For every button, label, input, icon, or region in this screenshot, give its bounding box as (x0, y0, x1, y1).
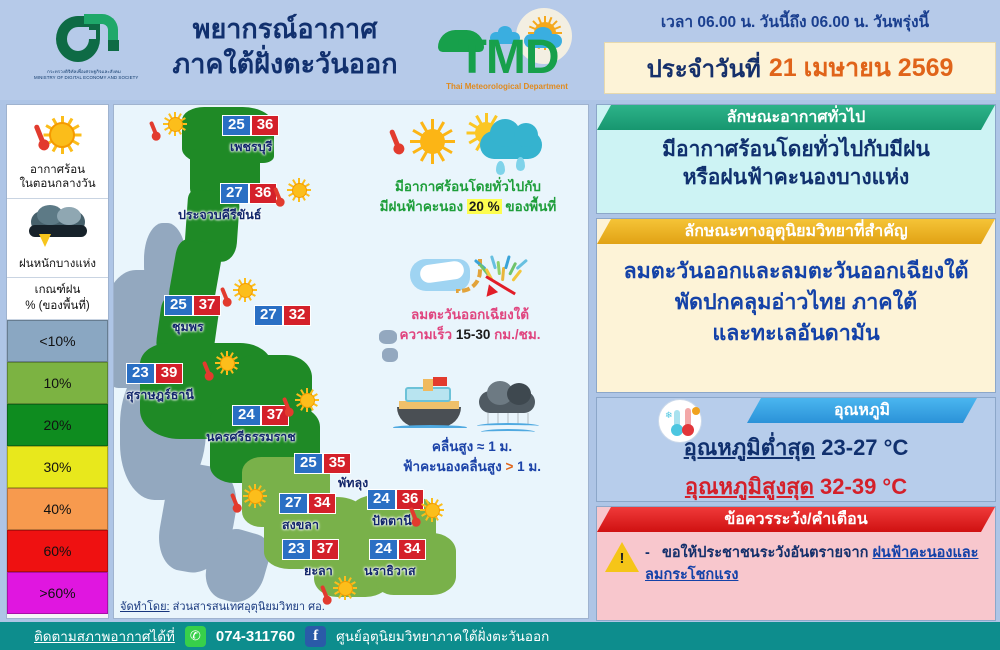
map-note-wind: ลมตะวันออกเฉียงใต้ ความเร็ว 15-30 กม./ชม… (364, 247, 576, 344)
forecast-infographic: กระทรวงดิจิทัลเพื่อเศรษฐกิจและสังคม MINI… (0, 0, 1000, 650)
panel-general-title: ลักษณะอากาศทั่วไป (597, 105, 995, 130)
legend-swatch-5: 60% (7, 530, 108, 572)
panel-general-line2: หรือฝนฟ้าคะนองบางแห่ง (597, 164, 995, 192)
date-label: ประจำวันที่ (647, 49, 761, 88)
map-panel: 2536เพชรบุรี2736ประจวบคีรีขันธ์2537ชุมพร… (113, 104, 589, 619)
temp-min-value: 27 (279, 493, 308, 514)
legend-hot-weather: อากาศร้อน ในตอนกลางวัน (7, 105, 108, 199)
ministry-name-english: MINISTRY OF DIGITAL ECONOMY AND SOCIETY (34, 75, 134, 80)
panel-warning-title: ข้อควรระวัง/คำเตือน (597, 507, 995, 532)
tmd-subtitle: Thai Meteorological Department (432, 82, 582, 91)
sun-icon-map (214, 350, 240, 376)
panel-temperature: ❄ อุณหภูมิ อุณหภูมิต่ำสุด 23-27 °C อุณหภ… (596, 397, 996, 502)
wind-icon (390, 247, 550, 303)
temperature-min-row: อุณหภูมิต่ำสุด 23-27 °C (597, 430, 995, 465)
legend-swatch-label: 40% (43, 501, 71, 517)
city-label: เพชรบุรี (230, 137, 272, 157)
panel-meteorology-line1: ลมตะวันออกและลมตะวันออกเฉียงใต้ (597, 256, 995, 287)
map-note-wave-line2-b: 1 ม. (517, 459, 541, 474)
legend-heavy-rain: ฝนหนักบางแห่ง (7, 199, 108, 278)
map-note-weather-line2-b: ของพื้นที่ (505, 199, 556, 214)
temperature-box: 2536 (222, 115, 279, 136)
temperature-max-row: อุณหภูมิสูงสุด 32-39 °C (597, 469, 995, 504)
city-label: นราธิวาส (364, 561, 416, 581)
legend-swatch-0: <10% (7, 320, 108, 362)
map-note-weather-line2-a: มีฝนฟ้าคะนอง (380, 199, 463, 214)
temp-max-value: 34 (308, 493, 337, 514)
legend-swatch-label: 10% (43, 375, 71, 391)
panel-meteorology: ลักษณะทางอุตุนิยมวิทยาที่สำคัญ ลมตะวันออ… (596, 218, 996, 393)
map-note-wave: คลื่นสูง ≈ 1 ม. ฟ้าคะนองคลื่นสูง > 1 ม. (366, 377, 578, 476)
ministry-name-thai: กระทรวงดิจิทัลเพื่อเศรษฐกิจและสังคม (34, 68, 134, 75)
thermometer-pair-icon: ❄ (659, 400, 701, 442)
temp-min-value: 24 (369, 539, 398, 560)
legend-rain-caption: ฝนหนักบางแห่ง (9, 257, 106, 271)
temperature-box: 2734 (279, 493, 336, 514)
phone-icon: ✆ (185, 626, 206, 647)
legend-swatch-label: 60% (43, 543, 71, 559)
temperature-box: 2537 (164, 295, 221, 316)
map-note-wave-line1-a: คลื่นสูง ≈ (432, 439, 485, 454)
legend-panel: อากาศร้อน ในตอนกลางวัน ฝนหนักบางแห่ง เกณ… (6, 104, 109, 619)
sun-icon-map (419, 497, 445, 523)
temperature-max-value: 32-39 °C (820, 474, 907, 499)
sun-rain-combo-icon (368, 109, 568, 173)
temperature-box: 2736 (220, 183, 277, 204)
temp-min-value: 24 (367, 489, 396, 510)
legend-scale-title-line1: เกณฑ์ฝน (9, 283, 106, 299)
map-note-weather: มีอากาศร้อนโดยทั่วไปกับ มีฝนฟ้าคะนอง 20 … (350, 109, 586, 216)
thunderstorm-icon (9, 203, 106, 257)
legend-swatch-label: 30% (43, 459, 71, 475)
panel-temperature-title: อุณหภูมิ (747, 398, 977, 423)
legend-scale-title-line2: % (ของพื้นที่) (9, 299, 106, 315)
temperature-box: 2437 (232, 405, 289, 426)
temp-max-value: 32 (283, 305, 312, 326)
map-note-wave-line2-a: ฟ้าคะนองคลื่นสูง (403, 459, 502, 474)
legend-swatch-6: >60% (7, 572, 108, 614)
tmd-wordmark: TMD (434, 34, 582, 82)
page-title: พยากรณ์อากาศ ภาคใต้ฝั่งตะวันออก (150, 12, 420, 81)
sun-icon-map (332, 575, 358, 601)
facebook-icon[interactable]: f (305, 626, 326, 647)
boat-rain-icon (377, 377, 567, 435)
legend-swatch-3: 30% (7, 446, 108, 488)
warning-text-plain: ขอให้ประชาชนระวังอันตรายจาก (662, 545, 868, 561)
map-note-weather-line2: มีฝนฟ้าคะนอง 20 % ของพื้นที่ (350, 197, 586, 217)
legend-swatch-label: <10% (39, 333, 75, 349)
temp-max-value: 37 (193, 295, 222, 316)
panel-meteorology-title: ลักษณะทางอุตุนิยมวิทยาที่สำคัญ (597, 219, 995, 244)
temp-min-value: 27 (254, 305, 283, 326)
panel-meteorology-line2: พัดปกคลุมอ่าวไทย ภาคใต้ (597, 287, 995, 318)
date-value: 21 เมษายน 2569 (769, 48, 954, 88)
map-note-wind-line2-a: ความเร็ว (400, 327, 453, 342)
city-label: นครศรีธรรมราช (206, 427, 296, 447)
sun-thermometer-icon (9, 109, 106, 163)
legend-swatch-2: 20% (7, 404, 108, 446)
city-label: ยะลา (304, 561, 333, 581)
legend-hot-caption-line2: ในตอนกลางวัน (9, 177, 106, 191)
city-label: สุราษฎร์ธานี (126, 385, 194, 405)
map-credit-value: ส่วนสารสนเทศอุตุนิยมวิทยา ศอ. (173, 601, 325, 613)
city-label: สงขลา (282, 515, 319, 535)
temperature-min-value: 23-27 °C (821, 435, 908, 460)
panel-general-weather: ลักษณะอากาศทั่วไป มีอากาศร้อนโดยทั่วไปกั… (596, 104, 996, 214)
map-note-wave-line1-b: 1 ม. (488, 439, 512, 454)
temp-min-value: 23 (126, 363, 155, 384)
page-title-line1: พยากรณ์อากาศ (150, 12, 420, 47)
page-title-line2: ภาคใต้ฝั่งตะวันออก (150, 47, 420, 82)
temperature-box: 2337 (282, 539, 339, 560)
temp-max-value: 35 (323, 453, 352, 474)
city-label: พัทลุง (338, 473, 368, 493)
panel-meteorology-body: ลมตะวันออกและลมตะวันออกเฉียงใต้ พัดปกคลุ… (597, 256, 995, 350)
map-note-wave-line2: ฟ้าคะนองคลื่นสูง > 1 ม. (366, 457, 578, 477)
warning-triangle-icon: ! (605, 542, 639, 572)
map-credit: จัดทำโดย: ส่วนสารสนเทศอุตุนิยมวิทยา ศอ. (120, 597, 325, 615)
city-label: ประจวบคีรีขันธ์ (178, 205, 261, 225)
temperature-min-label: อุณหภูมิต่ำสุด (684, 435, 815, 460)
temperature-max-label: อุณหภูมิสูงสุด (685, 474, 814, 499)
sun-icon-map (232, 277, 258, 303)
temp-min-value: 23 (282, 539, 311, 560)
legend-scale-title: เกณฑ์ฝน % (ของพื้นที่) (7, 278, 108, 320)
warning-text: - ขอให้ประชาชนระวังอันตรายจาก ฝนฟ้าคะนอง… (645, 542, 987, 587)
map-note-wave-gt: > (505, 459, 513, 474)
sun-icon-map (294, 387, 320, 413)
temperature-box: 2732 (254, 305, 311, 326)
sun-icon-map (286, 177, 312, 203)
warning-bullet: - (645, 545, 650, 561)
ministry-emblem-icon (34, 12, 134, 70)
map-note-wind-speed: 15-30 (456, 327, 491, 342)
sun-icon-map (242, 483, 268, 509)
map-note-weather-line1: มีอากาศร้อนโดยทั่วไปกับ (350, 177, 586, 197)
footer: ติดตามสภาพอากาศได้ที่ ✆ 074-311760 f ศูน… (0, 622, 1000, 650)
map-credit-label: จัดทำโดย: (120, 601, 170, 613)
temp-min-value: 24 (232, 405, 261, 426)
legend-hot-caption-line1: อากาศร้อน (9, 163, 106, 177)
panel-general-body: มีอากาศร้อนโดยทั่วไปกับมีฝน หรือฝนฟ้าคะน… (597, 136, 995, 191)
temp-max-value: 39 (155, 363, 184, 384)
panel-warning-body: ! - ขอให้ประชาชนระวังอันตรายจาก ฝนฟ้าคะน… (597, 532, 995, 587)
temp-min-value: 27 (220, 183, 249, 204)
city-label: ปัตตานี (372, 511, 412, 531)
temp-max-value: 37 (311, 539, 340, 560)
legend-scale-list: <10%10%20%30%40%60%>60% (7, 320, 108, 614)
island-phangan (382, 348, 398, 362)
temp-max-value: 36 (251, 115, 280, 136)
temp-min-value: 25 (222, 115, 251, 136)
temperature-box: 2434 (369, 539, 426, 560)
legend-swatch-1: 10% (7, 362, 108, 404)
map-note-rain-percent: 20 % (467, 199, 502, 214)
panel-general-line1: มีอากาศร้อนโดยทั่วไปกับมีฝน (597, 136, 995, 164)
map-note-wind-line2-b: กม./ชม. (494, 327, 540, 342)
footer-facebook-page[interactable]: ศูนย์อุตุนิยมวิทยาภาคใต้ฝั่งตะวันออก (336, 625, 549, 647)
temperature-box: 2436 (367, 489, 424, 510)
temperature-box: 2535 (294, 453, 351, 474)
header: กระทรวงดิจิทัลเพื่อเศรษฐกิจและสังคม MINI… (0, 0, 1000, 100)
temp-max-value: 34 (398, 539, 427, 560)
map-note-wind-line1: ลมตะวันออกเฉียงใต้ (364, 305, 576, 325)
validity-period: เวลา 06.00 น. วันนี้ถึง 06.00 น. วันพรุ่… (600, 9, 990, 34)
map-note-wave-line1: คลื่นสูง ≈ 1 ม. (366, 437, 578, 457)
city-label: ชุมพร (172, 317, 204, 337)
temp-min-value: 25 (164, 295, 193, 316)
panel-meteorology-line3: และทะเลอันดามัน (597, 318, 995, 349)
footer-phone[interactable]: 074-311760 (216, 628, 295, 645)
legend-swatch-label: >60% (39, 585, 75, 601)
legend-swatch-label: 20% (43, 417, 71, 433)
date-box: ประจำวันที่ 21 เมษายน 2569 (604, 42, 996, 94)
map-note-wind-line2: ความเร็ว 15-30 กม./ชม. (364, 325, 576, 345)
footer-follow-label: ติดตามสภาพอากาศได้ที่ (34, 625, 175, 647)
panel-warning: ข้อควรระวัง/คำเตือน ! - ขอให้ประชาชนระวั… (596, 506, 996, 621)
tmd-logo: TMD Thai Meteorological Department (432, 6, 582, 98)
temperature-box: 2339 (126, 363, 183, 384)
sun-icon-map (162, 111, 188, 137)
ministry-logo: กระทรวงดิจิทัลเพื่อเศรษฐกิจและสังคม MINI… (34, 12, 134, 90)
legend-swatch-4: 40% (7, 488, 108, 530)
temp-min-value: 25 (294, 453, 323, 474)
